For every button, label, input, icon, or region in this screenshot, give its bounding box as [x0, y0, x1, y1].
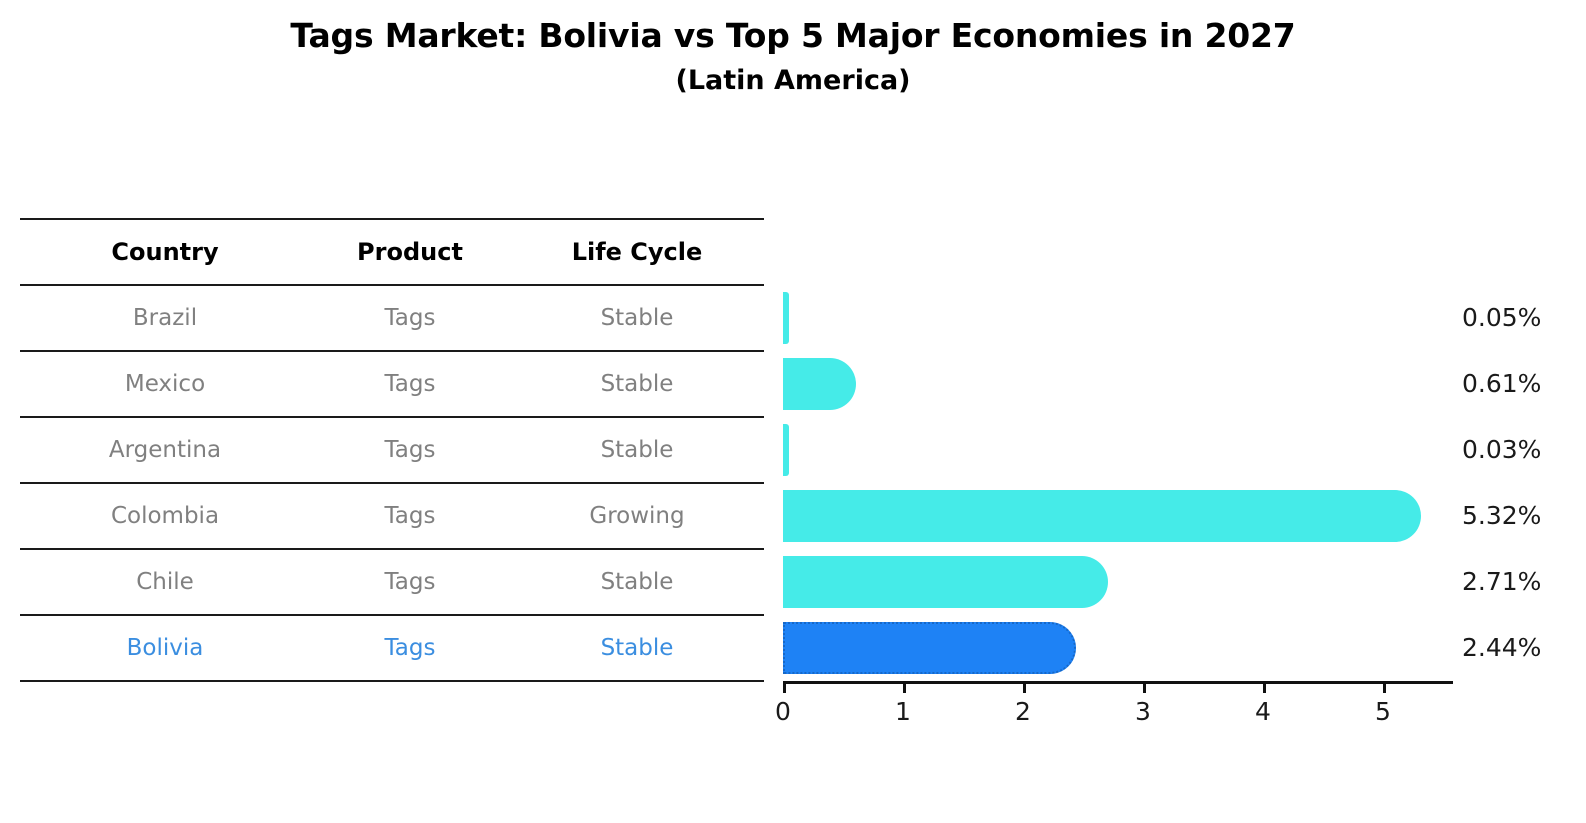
x-axis-tick-label: 0 — [775, 697, 791, 726]
cell-country: Bolivia — [20, 635, 310, 661]
page-title: Tags Market: Bolivia vs Top 5 Major Econ… — [0, 0, 1586, 55]
cell-country: Chile — [20, 569, 310, 595]
x-axis-tick — [1023, 684, 1026, 693]
page-subtitle: (Latin America) — [0, 55, 1586, 96]
table-row[interactable]: Brazil Tags Stable — [20, 286, 764, 350]
x-axis-tick-label: 3 — [1135, 697, 1151, 726]
cell-life-cycle: Stable — [510, 635, 764, 661]
x-axis: 012345 — [783, 681, 1453, 684]
cell-product: Tags — [310, 569, 510, 595]
x-axis-tick — [903, 684, 906, 693]
x-axis-tick — [1143, 684, 1146, 693]
table-row-highlighted[interactable]: Bolivia Tags Stable — [20, 616, 764, 680]
table-header-row: Country Product Life Cycle — [20, 220, 764, 284]
bar-brazil[interactable] — [783, 292, 789, 344]
x-axis-tick-label: 2 — [1015, 697, 1031, 726]
table-row[interactable]: Colombia Tags Growing — [20, 484, 764, 548]
bar-mexico[interactable] — [783, 358, 856, 410]
bar-argentina[interactable] — [783, 424, 789, 476]
column-header-country: Country — [20, 238, 310, 266]
x-axis-tick-label: 1 — [895, 697, 911, 726]
column-header-product: Product — [310, 238, 510, 266]
cell-country: Argentina — [20, 437, 310, 463]
country-table: Country Product Life Cycle Brazil Tags S… — [20, 218, 764, 682]
cell-life-cycle: Stable — [510, 569, 764, 595]
bar-value-label: 0.03% — [1462, 424, 1541, 476]
bar-colombia[interactable] — [783, 490, 1421, 542]
cell-country: Mexico — [20, 371, 310, 397]
x-axis-tick — [1383, 684, 1386, 693]
cell-country: Colombia — [20, 503, 310, 529]
table-row[interactable]: Chile Tags Stable — [20, 550, 764, 614]
bar-bolivia[interactable] — [783, 622, 1076, 674]
table-rule-bottom — [20, 680, 764, 682]
bar-value-label: 2.44% — [1462, 622, 1541, 674]
cell-product: Tags — [310, 503, 510, 529]
x-axis-tick — [1263, 684, 1266, 693]
bar-value-label: 0.05% — [1462, 292, 1541, 344]
x-axis-tick-label: 5 — [1375, 697, 1391, 726]
cell-life-cycle: Stable — [510, 305, 764, 331]
cell-life-cycle: Stable — [510, 371, 764, 397]
title-block: Tags Market: Bolivia vs Top 5 Major Econ… — [0, 0, 1586, 96]
cell-product: Tags — [310, 437, 510, 463]
cell-product: Tags — [310, 371, 510, 397]
table-row[interactable]: Argentina Tags Stable — [20, 418, 764, 482]
column-header-life-cycle: Life Cycle — [510, 238, 764, 266]
bar-value-label: 0.61% — [1462, 358, 1541, 410]
x-axis-tick — [783, 684, 786, 693]
cell-life-cycle: Growing — [510, 503, 764, 529]
cell-product: Tags — [310, 635, 510, 661]
bar-chile[interactable] — [783, 556, 1108, 608]
x-axis-tick-label: 4 — [1255, 697, 1271, 726]
table-row[interactable]: Mexico Tags Stable — [20, 352, 764, 416]
cell-product: Tags — [310, 305, 510, 331]
bar-value-label: 5.32% — [1462, 490, 1541, 542]
cell-life-cycle: Stable — [510, 437, 764, 463]
cell-country: Brazil — [20, 305, 310, 331]
bar-value-label: 2.71% — [1462, 556, 1541, 608]
